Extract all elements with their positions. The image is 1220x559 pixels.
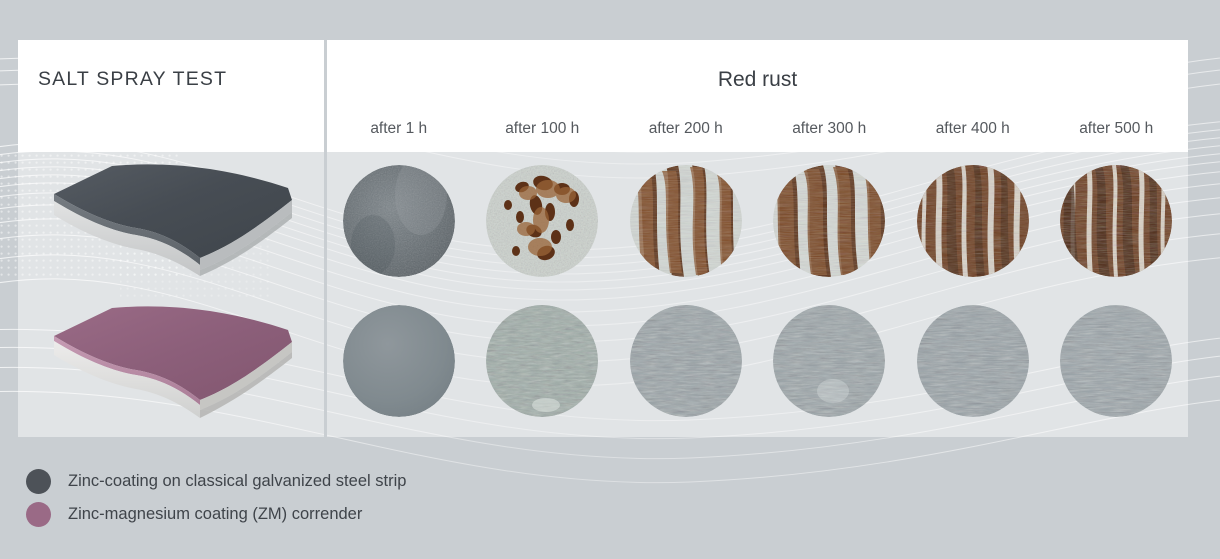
sample-cell bbox=[327, 290, 471, 432]
sample-disc-grid bbox=[327, 152, 1188, 437]
sample-disc-zinc-500h bbox=[1060, 165, 1172, 277]
column-header-after-400h: after 400 h bbox=[901, 112, 1045, 152]
zinc-magnesium-slab-illustration bbox=[40, 300, 302, 420]
zinc-coating-slab-illustration bbox=[40, 158, 302, 278]
legend-label-zinc-coating: Zinc-coating on classical galvanized ste… bbox=[68, 472, 406, 491]
column-header-after-100h: after 100 h bbox=[471, 112, 615, 152]
sample-cell bbox=[614, 150, 758, 292]
sample-cell bbox=[471, 150, 615, 292]
sample-row-zinc-magnesium-coating bbox=[327, 290, 1188, 432]
legend-dot-zinc-magnesium-coating bbox=[26, 502, 51, 527]
legend-dot-zinc-coating bbox=[26, 469, 51, 494]
section-title-red-rust: Red rust bbox=[327, 40, 1188, 92]
legend-label-zinc-magnesium-coating: Zinc-magnesium coating (ZM) corrender bbox=[68, 505, 362, 524]
column-header-after-500h: after 500 h bbox=[1045, 112, 1189, 152]
column-header-after-300h: after 300 h bbox=[758, 112, 902, 152]
sample-disc-zm-200h bbox=[630, 305, 742, 417]
sample-cell bbox=[327, 150, 471, 292]
left-header-panel bbox=[18, 40, 324, 152]
sample-cell bbox=[1045, 290, 1189, 432]
sample-disc-zm-400h bbox=[917, 305, 1029, 417]
column-header-row: after 1 h after 100 h after 200 h after … bbox=[327, 112, 1188, 152]
legend-item-zinc-magnesium-coating: Zinc-magnesium coating (ZM) corrender bbox=[26, 498, 406, 531]
column-header-after-200h: after 200 h bbox=[614, 112, 758, 152]
sample-disc-zinc-1h bbox=[343, 165, 455, 277]
salt-spray-test-card: SALT SPRAY TEST Red rust after 1 h after… bbox=[18, 40, 1188, 437]
page-title: SALT SPRAY TEST bbox=[38, 68, 227, 91]
legend: Zinc-coating on classical galvanized ste… bbox=[26, 465, 406, 531]
sample-row-zinc-coating bbox=[327, 150, 1188, 292]
sample-slab-column bbox=[18, 152, 324, 437]
sample-disc-zm-1h bbox=[343, 305, 455, 417]
sample-cell bbox=[901, 150, 1045, 292]
sample-cell bbox=[614, 290, 758, 432]
sample-disc-zinc-300h bbox=[773, 165, 885, 277]
sample-cell bbox=[1045, 150, 1189, 292]
sample-cell bbox=[901, 290, 1045, 432]
sample-disc-zinc-100h bbox=[486, 165, 598, 277]
sample-disc-zm-500h bbox=[1060, 305, 1172, 417]
legend-item-zinc-coating: Zinc-coating on classical galvanized ste… bbox=[26, 465, 406, 498]
sample-cell bbox=[758, 290, 902, 432]
sample-cell bbox=[471, 290, 615, 432]
column-header-after-1h: after 1 h bbox=[327, 112, 471, 152]
sample-disc-zinc-400h bbox=[917, 165, 1029, 277]
sample-disc-zinc-200h bbox=[630, 165, 742, 277]
sample-disc-zm-100h bbox=[486, 305, 598, 417]
sample-cell bbox=[758, 150, 902, 292]
sample-disc-zm-300h bbox=[773, 305, 885, 417]
